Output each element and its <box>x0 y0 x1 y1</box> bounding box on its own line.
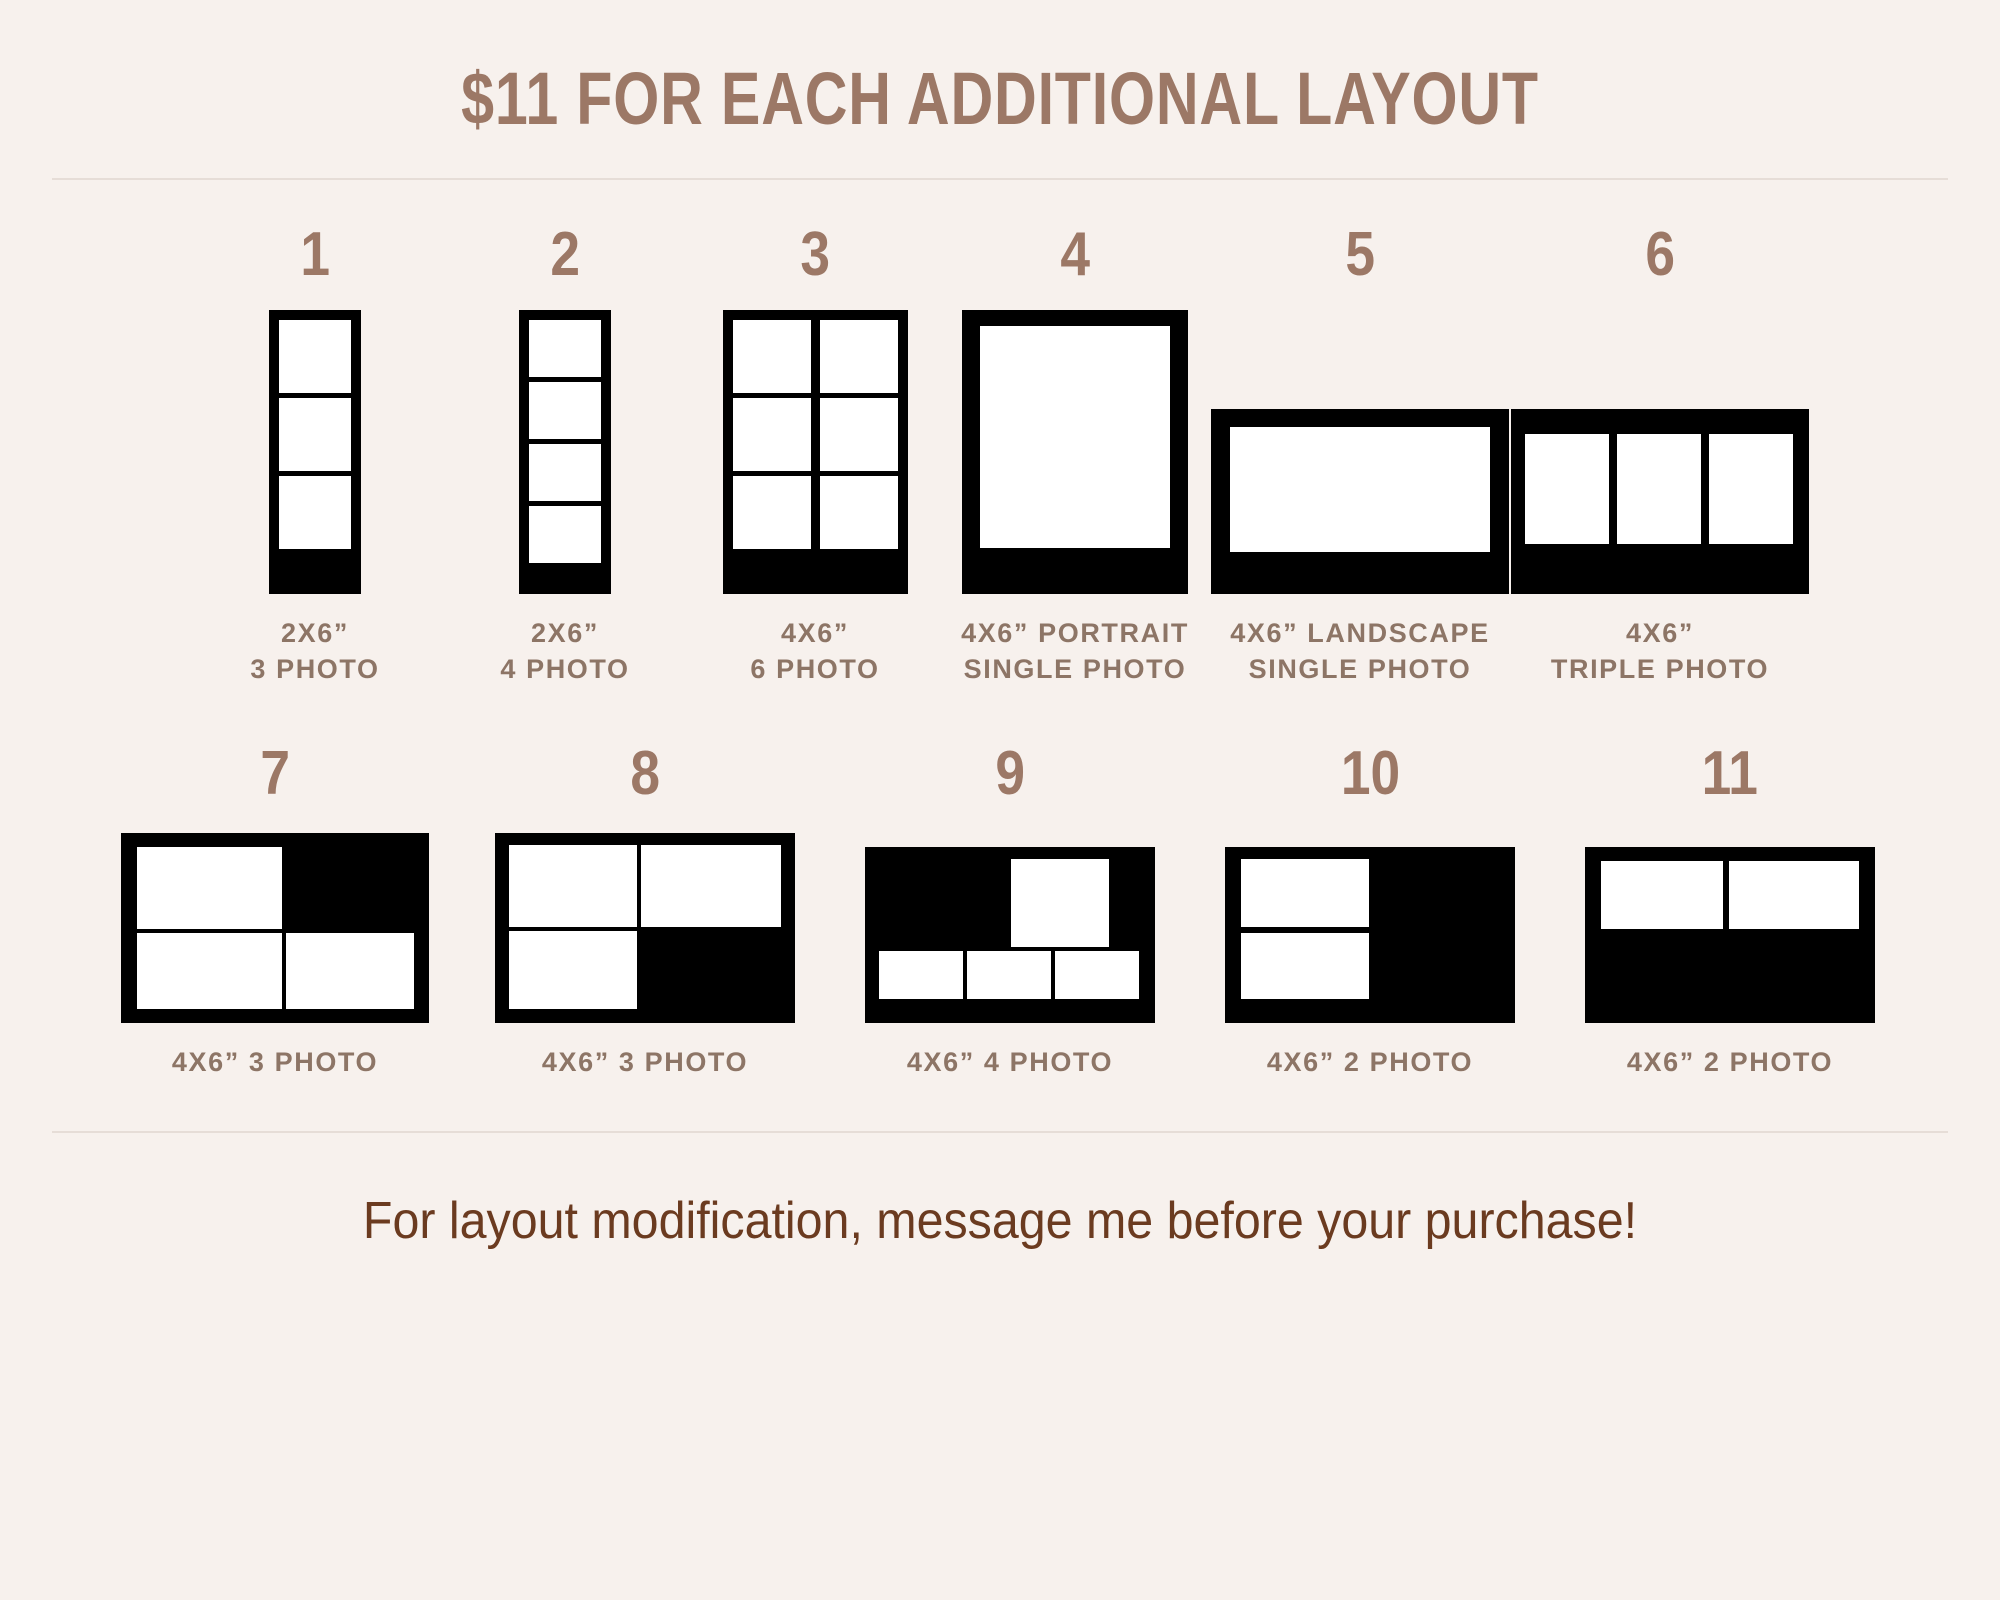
strip-frame <box>269 310 361 594</box>
layout-number: 6 <box>1645 224 1675 286</box>
layout-preview-8 <box>495 823 795 1023</box>
layout-preview-5 <box>1211 304 1509 594</box>
strip-frame <box>1511 409 1809 594</box>
photo-slot <box>529 506 601 563</box>
layout-row-first: 1 2X6” 3 PHOTO 2 2X6” 4 P <box>0 180 2000 687</box>
photo-slot <box>279 320 351 393</box>
photo-slot <box>820 320 898 393</box>
photo-slot <box>137 933 282 1009</box>
layout-caption: 4X6” 2 PHOTO <box>1267 1045 1473 1081</box>
layout-number: 3 <box>800 224 830 286</box>
layout-caption: 4X6” 4 PHOTO <box>907 1045 1113 1081</box>
layout-option-5[interactable]: 5 4X6” LANDSCAPE SINGLE PHOTO <box>1210 224 1510 687</box>
photo-slot <box>967 951 1051 999</box>
photo-slot <box>1709 434 1793 544</box>
strip-frame <box>495 833 795 1023</box>
layout-preview-3 <box>723 304 908 594</box>
strip-frame <box>1211 409 1509 594</box>
photo-slot <box>733 320 811 393</box>
photo-slot <box>286 933 414 1009</box>
layout-number: 10 <box>1340 743 1399 805</box>
photo-slot <box>1729 861 1859 929</box>
strip-frame <box>962 310 1188 594</box>
layout-number: 4 <box>1060 224 1090 286</box>
layout-caption: 4X6” 3 PHOTO <box>542 1045 748 1081</box>
layout-number: 2 <box>550 224 580 286</box>
photo-slot <box>529 320 601 377</box>
layout-preview-2 <box>519 304 611 594</box>
photo-slot <box>137 847 282 929</box>
photo-slot <box>1525 434 1609 544</box>
photo-slot <box>529 382 601 439</box>
layout-caption: 4X6” 2 PHOTO <box>1627 1045 1833 1081</box>
photo-slot <box>641 845 781 927</box>
layout-preview-7 <box>121 823 429 1023</box>
strip-frame <box>121 833 429 1023</box>
strip-frame <box>865 847 1155 1023</box>
layout-preview-6 <box>1511 304 1809 594</box>
photo-slot <box>1601 861 1723 929</box>
layout-option-4[interactable]: 4 4X6” PORTRAIT SINGLE PHOTO <box>940 224 1210 687</box>
layout-row-second: 7 4X6” 3 PHOTO 8 4X6” 3 PHOTO <box>0 687 2000 1081</box>
photo-slot <box>879 951 963 999</box>
layout-number: 7 <box>260 743 290 805</box>
photo-slot <box>1617 434 1701 544</box>
photo-slot <box>733 476 811 549</box>
strip-frame <box>1225 847 1515 1023</box>
layout-preview-9 <box>865 823 1155 1023</box>
strip-frame <box>723 310 908 594</box>
layout-option-9[interactable]: 9 4X6” 4 PHOTO <box>830 743 1190 1081</box>
photo-slot <box>279 398 351 471</box>
photo-slot <box>1055 951 1139 999</box>
page-title: $11 FOR EACH ADDITIONAL LAYOUT <box>200 0 1800 136</box>
layout-caption: 2X6” 4 PHOTO <box>500 616 629 687</box>
photo-slot <box>980 326 1170 548</box>
layout-preview-10 <box>1225 823 1515 1023</box>
layout-option-1[interactable]: 1 2X6” 3 PHOTO <box>190 224 440 687</box>
layout-caption: 4X6” 6 PHOTO <box>750 616 879 687</box>
layout-number: 5 <box>1345 224 1375 286</box>
layout-caption: 4X6” TRIPLE PHOTO <box>1551 616 1769 687</box>
layout-caption: 4X6” PORTRAIT SINGLE PHOTO <box>961 616 1189 687</box>
layout-caption: 4X6” 3 PHOTO <box>172 1045 378 1081</box>
photo-slot <box>1011 859 1109 947</box>
footer-note: For layout modification, message me befo… <box>70 1133 1930 1247</box>
layout-caption: 2X6” 3 PHOTO <box>250 616 379 687</box>
photo-slot <box>1241 933 1369 999</box>
layout-option-6[interactable]: 6 4X6” TRIPLE PHOTO <box>1510 224 1810 687</box>
layout-caption: 4X6” LANDSCAPE SINGLE PHOTO <box>1230 616 1489 687</box>
layout-number: 8 <box>630 743 660 805</box>
layout-price-sheet: $11 FOR EACH ADDITIONAL LAYOUT 1 2X6” 3 … <box>0 0 2000 1600</box>
layout-number: 9 <box>995 743 1025 805</box>
photo-slot <box>733 398 811 471</box>
layout-number: 1 <box>300 224 330 286</box>
layout-option-2[interactable]: 2 2X6” 4 PHOTO <box>440 224 690 687</box>
layout-option-8[interactable]: 8 4X6” 3 PHOTO <box>460 743 830 1081</box>
layout-number: 11 <box>1702 743 1758 805</box>
strip-frame <box>1585 847 1875 1023</box>
layout-option-11[interactable]: 11 4X6” 2 PHOTO <box>1550 743 1910 1081</box>
photo-slot <box>529 444 601 501</box>
photo-slot <box>509 845 637 927</box>
photo-slot <box>509 931 637 1009</box>
photo-slot <box>1230 427 1490 552</box>
layout-preview-11 <box>1585 823 1875 1023</box>
photo-slot <box>279 476 351 549</box>
layout-preview-1 <box>269 304 361 594</box>
photo-slot <box>1241 859 1369 927</box>
photo-slot <box>820 398 898 471</box>
layout-option-10[interactable]: 10 4X6” 2 PHOTO <box>1190 743 1550 1081</box>
layout-option-7[interactable]: 7 4X6” 3 PHOTO <box>90 743 460 1081</box>
photo-slot <box>820 476 898 549</box>
layout-option-3[interactable]: 3 4X6” 6 PHOTO <box>690 224 940 687</box>
strip-frame <box>519 310 611 594</box>
layout-preview-4 <box>962 304 1188 594</box>
